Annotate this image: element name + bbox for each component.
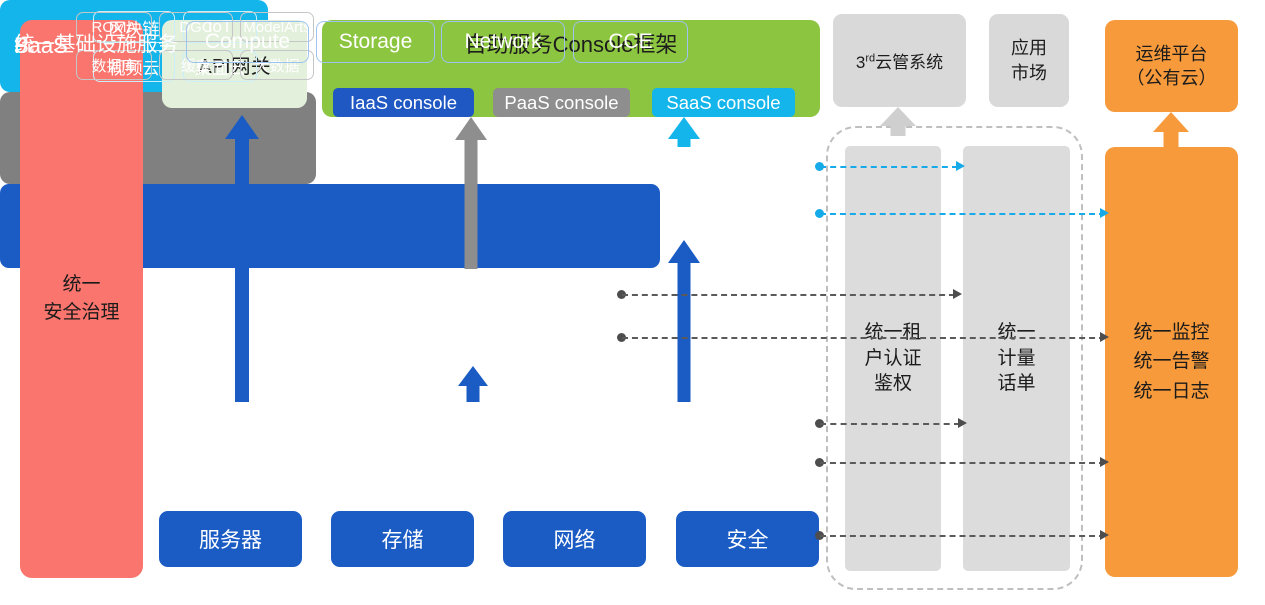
resource-box-network[interactable]: 网络: [503, 511, 646, 567]
third-cloud-superscript: rd: [865, 52, 875, 64]
resource-box-security[interactable]: 安全: [676, 511, 819, 567]
app-market-line1: 应用: [1011, 38, 1047, 58]
connector-infra-to-ops: [820, 462, 1105, 464]
resource-box-server[interactable]: 服务器: [159, 511, 302, 567]
security-label-line2: 安全治理: [43, 302, 119, 323]
infra-item-storage[interactable]: Storage: [316, 21, 435, 63]
arrowhead-paas-to-ops: [1100, 332, 1109, 342]
arrowhead-paas-to-auth: [953, 289, 962, 299]
diagram-canvas: 统一 安全治理 API网关 自助服务Console框架 IaaS console…: [0, 0, 1265, 605]
security-label: 统一 安全治理: [43, 271, 119, 326]
connector-saas-to-auth: [820, 166, 958, 168]
arrowhead-infra-to-auth: [958, 418, 967, 428]
connector-resources-to-ops: [820, 535, 1105, 537]
third-party-cloud-management-box[interactable]: 3rd云管系统: [833, 14, 966, 107]
connector-saas-to-ops: [820, 213, 1105, 215]
security-label-line1: 统一: [62, 274, 100, 295]
connector-paas-to-auth: [622, 294, 955, 296]
infra-item-cce[interactable]: CCE: [573, 21, 688, 63]
app-market-line2: 市场: [1011, 63, 1047, 83]
arrowhead-resources-to-ops: [1100, 530, 1109, 540]
unified-monitoring-panel[interactable]: 统一监控 统一告警 统一日志: [1105, 147, 1238, 577]
third-cloud-rest: 云管系统: [875, 53, 943, 72]
arrow-saas-to-console: [668, 117, 700, 147]
paas-console-chip[interactable]: PaaS console: [493, 88, 630, 117]
arrow-infra-to-saas: [668, 240, 700, 402]
ops-top-label: 运维平台 （公有云）: [1127, 42, 1217, 91]
ops-panel-line2: 统一告警: [1133, 351, 1209, 372]
arrow-paas-to-console: [455, 117, 487, 269]
connector-infra-to-auth: [820, 423, 960, 425]
unified-security-governance-panel[interactable]: 统一 安全治理: [20, 20, 143, 578]
ops-panel-line1: 统一监控: [1133, 322, 1209, 343]
ops-panel-line3: 统一日志: [1133, 381, 1209, 402]
arrow-to-ops-platform: [1153, 112, 1189, 148]
arrow-infra-to-api-gateway: [225, 115, 259, 402]
third-cloud-prefix: 3: [856, 53, 865, 72]
connector-paas-to-ops: [622, 337, 1105, 339]
infrastructure-label: 统一基础设施服务: [14, 0, 178, 84]
ops-panel-label: 统一监控 统一告警 统一日志: [1133, 318, 1209, 406]
ops-top-line1: 运维平台: [1136, 44, 1208, 64]
saas-console-chip[interactable]: SaaS console: [652, 88, 795, 117]
third-cloud-label: 3rd云管系统: [856, 48, 943, 73]
ops-platform-public-cloud-box[interactable]: 运维平台 （公有云）: [1105, 20, 1238, 112]
app-market-label: 应用 市场: [1011, 36, 1047, 85]
iaas-console-chip[interactable]: IaaS console: [333, 88, 474, 117]
arrowhead-infra-to-ops: [1100, 457, 1109, 467]
app-market-box[interactable]: 应用 市场: [989, 14, 1069, 107]
unified-tenant-auth-column[interactable]: 统一租户认证鉴权: [845, 146, 941, 571]
unified-tenant-auth-label: 统一租户认证鉴权: [864, 320, 921, 397]
resource-box-storage[interactable]: 存储: [331, 511, 474, 567]
unified-metering-billing-label: 统一计量话单: [997, 320, 1035, 397]
arrow-infra-to-paas: [458, 366, 488, 402]
arrowhead-saas-to-auth: [956, 161, 965, 171]
unified-metering-billing-column[interactable]: 统一计量话单: [963, 146, 1070, 571]
infra-item-compute[interactable]: Compute: [186, 21, 309, 63]
ops-top-line2: （公有云）: [1127, 68, 1217, 88]
arrow-to-third-cloud: [880, 107, 916, 136]
arrowhead-saas-to-ops: [1100, 208, 1109, 218]
infra-item-network[interactable]: Network: [441, 21, 565, 63]
